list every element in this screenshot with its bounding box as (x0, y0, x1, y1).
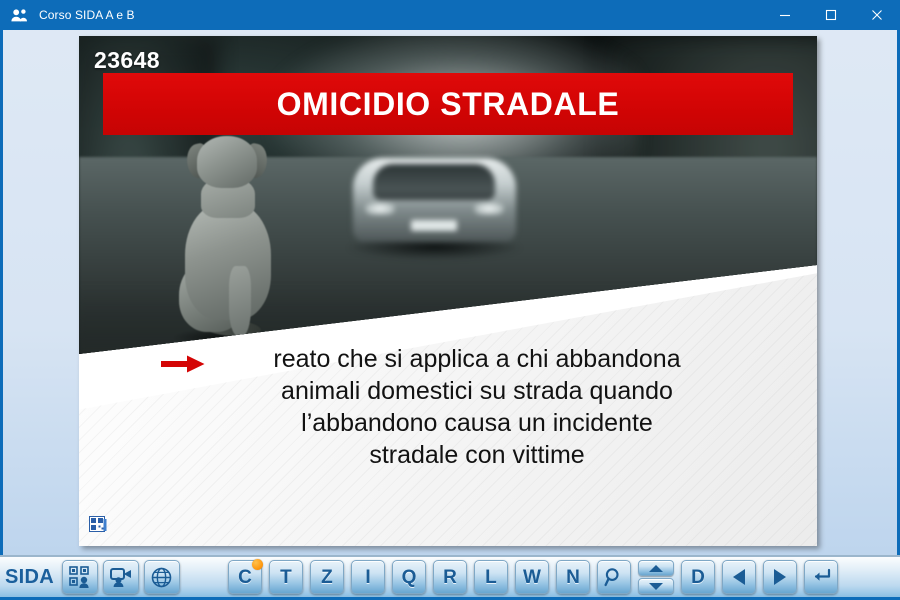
letter-button-d[interactable]: D (681, 560, 715, 594)
letter-button-label: Q (402, 568, 417, 587)
maximize-button[interactable] (808, 0, 854, 30)
letter-button-w[interactable]: W (515, 560, 549, 594)
globe-button[interactable] (144, 560, 180, 594)
red-arrow-icon (161, 355, 205, 373)
slide-container: 23648 OMICIDIO STRADALE reato che si app… (79, 36, 817, 546)
dog-head (197, 136, 257, 188)
letter-button-i[interactable]: I (351, 560, 385, 594)
slide-banner-title: OMICIDIO STRADALE (277, 86, 620, 123)
photo-dog (167, 136, 287, 346)
slide-body-line: reato che si applica a chi abbandona (175, 343, 779, 375)
stepper-up-button[interactable] (638, 560, 674, 576)
car-taillight-right (474, 202, 504, 215)
letter-button-label: W (523, 568, 541, 587)
page-stepper (638, 560, 674, 594)
qr-person-icon (69, 566, 91, 588)
search-button[interactable] (597, 560, 631, 594)
globe-icon (151, 567, 172, 588)
title-bar: Corso SIDA A e B (0, 0, 900, 30)
letter-button-label: T (280, 568, 292, 587)
notification-badge (252, 559, 263, 570)
stepper-down-button[interactable] (638, 578, 674, 594)
slide-body-line: stradale con vittime (175, 439, 779, 471)
letter-button-label: Z (321, 568, 333, 587)
toolbar-center-group: C T Z I Q R L W (180, 560, 900, 594)
dog-leg (229, 266, 251, 336)
video-person-icon (110, 567, 132, 587)
letter-button-r[interactable]: R (433, 560, 467, 594)
up-arrow-icon (649, 565, 663, 572)
dog-body (185, 202, 271, 320)
slide-body-line: animali domestici su strada quando (175, 375, 779, 407)
letter-button-l[interactable]: L (474, 560, 508, 594)
slide-body: reato che si applica a chi abbandona ani… (139, 343, 779, 471)
close-button[interactable] (854, 0, 900, 30)
application-window: Corso SIDA A e B (0, 0, 900, 600)
letter-button-label: R (443, 568, 457, 587)
photo-car (347, 144, 522, 262)
sida-watermark-icon (89, 516, 111, 538)
car-window (373, 164, 495, 200)
letter-button-label: N (566, 568, 580, 587)
letter-button-z[interactable]: Z (310, 560, 344, 594)
car-taillight-left (365, 202, 395, 215)
letter-button-label: D (691, 568, 705, 587)
letter-button-label: C (238, 568, 252, 587)
letter-button-c[interactable]: C (228, 560, 262, 594)
brand-label: SIDA (5, 566, 54, 589)
window-title: Corso SIDA A e B (39, 8, 135, 22)
enter-button[interactable] (804, 560, 838, 594)
slide-banner: OMICIDIO STRADALE (103, 73, 793, 135)
previous-button[interactable] (722, 560, 756, 594)
enter-return-icon (810, 568, 831, 586)
left-arrow-icon (733, 569, 745, 585)
slide-number: 23648 (94, 47, 160, 74)
users-icon (6, 0, 32, 30)
letter-button-t[interactable]: T (269, 560, 303, 594)
qr-person-button[interactable] (62, 560, 98, 594)
car-plate (411, 220, 457, 231)
bottom-toolbar: SIDA (0, 555, 900, 600)
letter-button-label: L (485, 568, 497, 587)
letter-button-label: I (365, 568, 370, 587)
letter-button-q[interactable]: Q (392, 560, 426, 594)
magnifier-icon (604, 567, 624, 587)
minimize-button[interactable] (762, 0, 808, 30)
letter-button-n[interactable]: N (556, 560, 590, 594)
slide-body-line: l’abbandono causa un incidente (175, 407, 779, 439)
toolbar-left-group: SIDA (0, 560, 180, 594)
video-person-button[interactable] (103, 560, 139, 594)
down-arrow-icon (649, 583, 663, 590)
right-arrow-icon (774, 569, 786, 585)
next-button[interactable] (763, 560, 797, 594)
slide: 23648 OMICIDIO STRADALE reato che si app… (79, 36, 817, 546)
slide-body-text: reato che si applica a chi abbandona ani… (139, 343, 779, 471)
